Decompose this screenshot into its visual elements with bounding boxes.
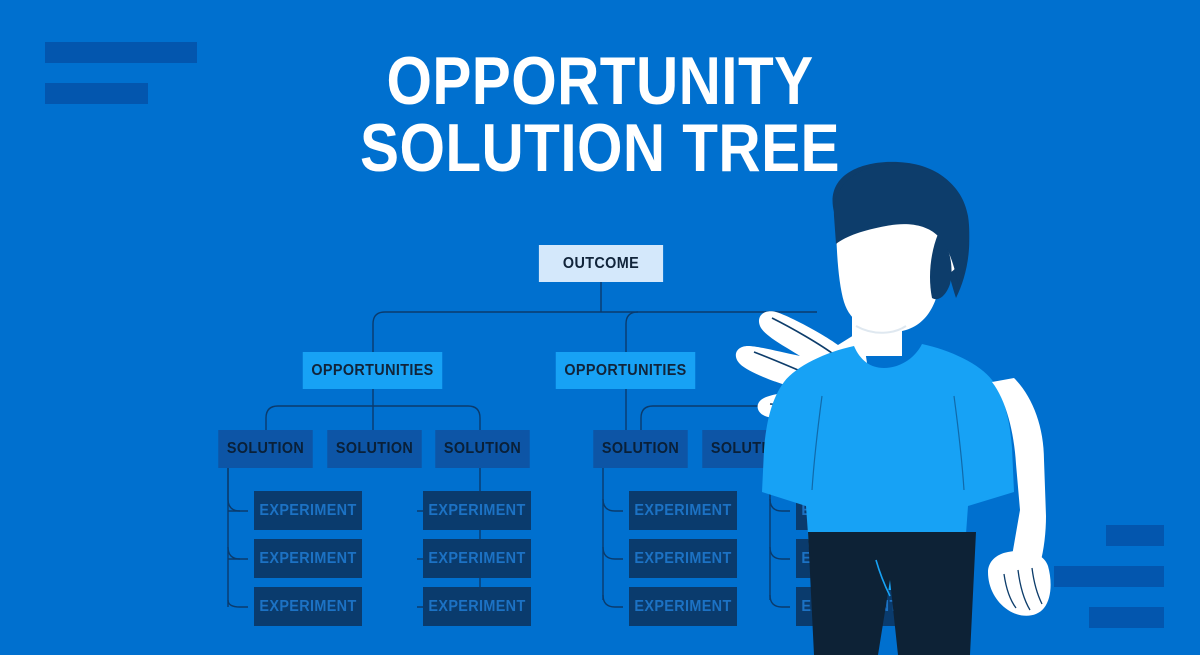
illustration-canvas: OPPORTUNITY SOLUTION TREE	[0, 0, 1200, 655]
tree-node-solution-0-0[interactable]: SOLUTION	[218, 430, 313, 468]
tree-node-outcome-label: OUTCOME	[563, 255, 639, 273]
tree-node-solution-0-2-label: SOLUTION	[444, 440, 521, 458]
tree-node-experiment-1-1-1[interactable]: EXPERIMENT	[796, 539, 904, 578]
tree-node-experiment-0-0-1[interactable]: EXPERIMENT	[254, 539, 362, 578]
tree-node-experiment-1-0-2[interactable]: EXPERIMENT	[629, 587, 737, 626]
tree-node-experiment-1-1-2-label: EXPERIMENT	[801, 598, 898, 616]
tree-node-experiment-1-0-0-label: EXPERIMENT	[634, 502, 731, 520]
tree-node-experiment-0-0-0[interactable]: EXPERIMENT	[254, 491, 362, 530]
tree-node-solution-1-2[interactable]: SOLUTION	[811, 430, 906, 468]
tree-node-experiment-0-0-0-label: EXPERIMENT	[259, 502, 356, 520]
tree-node-experiment-0-2-1[interactable]: EXPERIMENT	[423, 539, 531, 578]
decoration-bar-bottom-0	[1106, 525, 1164, 546]
tree-node-experiment-1-1-0[interactable]: EXPERIMENT	[796, 491, 904, 530]
tree-node-solution-1-2-label: SOLUTION	[820, 440, 897, 458]
tree-node-experiment-1-0-1[interactable]: EXPERIMENT	[629, 539, 737, 578]
tree-node-experiment-1-0-0[interactable]: EXPERIMENT	[629, 491, 737, 530]
tree-node-experiment-0-0-2[interactable]: EXPERIMENT	[254, 587, 362, 626]
tree-node-opportunity-1-label: OPPORTUNITIES	[564, 362, 686, 380]
tree-node-opportunity-1[interactable]: OPPORTUNITIES	[556, 352, 696, 389]
decoration-bar-top-1	[45, 83, 148, 104]
tree-node-experiment-1-1-1-label: EXPERIMENT	[801, 550, 898, 568]
decoration-bar-bottom-2	[1089, 607, 1164, 628]
tree-node-experiment-0-2-0[interactable]: EXPERIMENT	[423, 491, 531, 530]
tree-node-solution-0-1[interactable]: SOLUTION	[327, 430, 422, 468]
opportunity-solution-tree: OUTCOMEOPPORTUNITIESSOLUTIONEXPERIMENTEX…	[0, 0, 1200, 655]
tree-node-solution-1-0[interactable]: SOLUTION	[593, 430, 688, 468]
tree-node-opportunity-0-label: OPPORTUNITIES	[311, 362, 433, 380]
tree-node-experiment-0-0-1-label: EXPERIMENT	[259, 550, 356, 568]
tree-node-solution-1-1-label: SOLUTION	[711, 440, 788, 458]
tree-node-experiment-0-0-2-label: EXPERIMENT	[259, 598, 356, 616]
decoration-bar-top-0	[45, 42, 197, 63]
tree-node-experiment-0-2-1-label: EXPERIMENT	[428, 550, 525, 568]
tree-node-experiment-0-2-2[interactable]: EXPERIMENT	[423, 587, 531, 626]
tree-node-solution-1-0-label: SOLUTION	[602, 440, 679, 458]
tree-node-outcome[interactable]: OUTCOME	[539, 245, 663, 282]
tree-node-opportunity-0[interactable]: OPPORTUNITIES	[303, 352, 443, 389]
tree-node-experiment-0-2-2-label: EXPERIMENT	[428, 598, 525, 616]
tree-node-solution-0-2[interactable]: SOLUTION	[435, 430, 530, 468]
tree-node-experiment-1-0-1-label: EXPERIMENT	[634, 550, 731, 568]
tree-node-experiment-1-1-0-label: EXPERIMENT	[801, 502, 898, 520]
decoration-bar-bottom-1	[1054, 566, 1164, 587]
tree-node-solution-0-0-label: SOLUTION	[227, 440, 304, 458]
tree-node-experiment-0-2-0-label: EXPERIMENT	[428, 502, 525, 520]
tree-node-solution-0-1-label: SOLUTION	[336, 440, 413, 458]
tree-node-experiment-1-1-2[interactable]: EXPERIMENT	[796, 587, 904, 626]
tree-node-experiment-1-0-2-label: EXPERIMENT	[634, 598, 731, 616]
tree-node-solution-1-1[interactable]: SOLUTION	[702, 430, 797, 468]
